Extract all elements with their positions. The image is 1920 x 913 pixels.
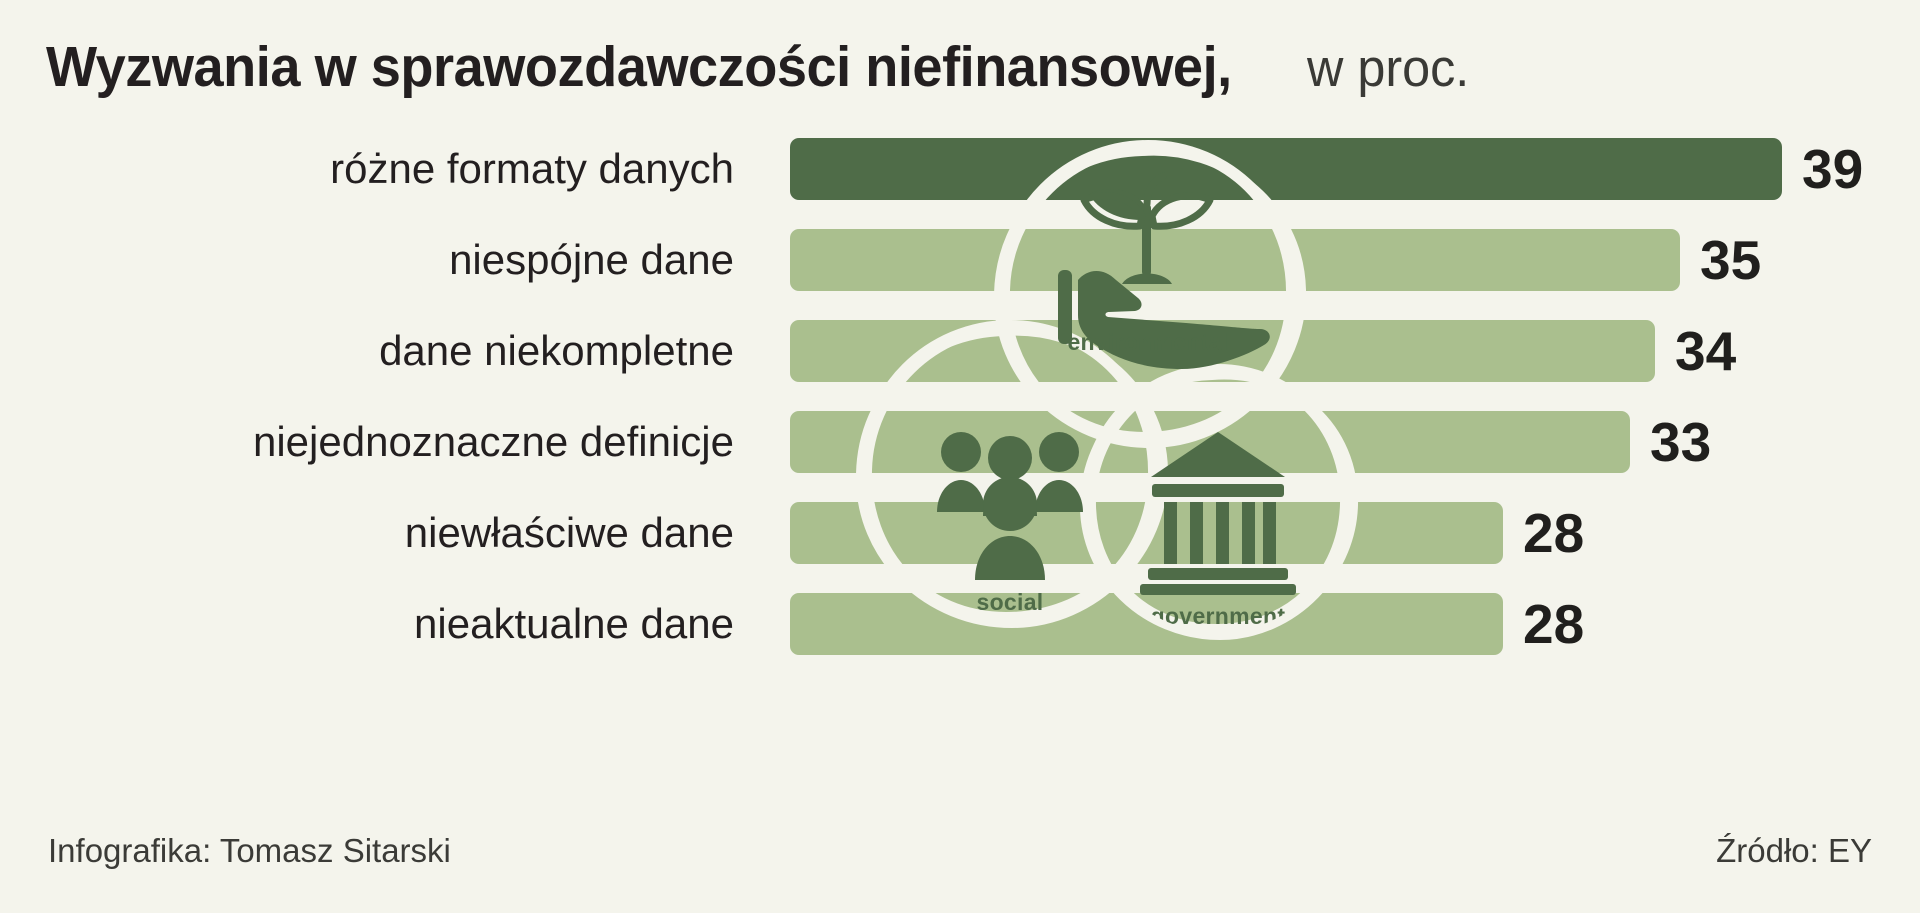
bar-value-label: 28 [1523, 496, 1584, 570]
footer-credit: Infografika: Tomasz Sitarski [48, 832, 451, 870]
bar-value-label: 35 [1700, 223, 1761, 297]
bar-value-label: 28 [1523, 587, 1584, 661]
bar-segment [790, 320, 1655, 382]
page-title-subtitle: w proc. [1307, 38, 1469, 99]
footer: Infografika: Tomasz Sitarski Źródło: EY [0, 832, 1920, 892]
bar-segment [790, 229, 1680, 291]
page-title: Wyzwania w sprawozdawczości niefinansowe… [46, 34, 1886, 106]
footer-source: Źródło: EY [1716, 832, 1872, 870]
category-label: dane niekompletne [0, 314, 762, 388]
chart-row: dane niekompletne 34 [0, 314, 1920, 388]
bar-segment [790, 411, 1630, 473]
category-label: niejednoznaczne definicje [0, 405, 762, 479]
bar-value-label: 39 [1802, 132, 1863, 206]
page-title-main: Wyzwania w sprawozdawczości niefinansowe… [46, 34, 1232, 100]
category-label: nieaktualne dane [0, 587, 762, 661]
bar-segment [790, 138, 1782, 200]
chart-row: nieaktualne dane 28 [0, 587, 1920, 661]
category-label: niewłaściwe dane [0, 496, 762, 570]
infographic-canvas: Wyzwania w sprawozdawczości niefinansowe… [0, 0, 1920, 913]
bar-value-label: 34 [1675, 314, 1736, 388]
chart-row: niejednoznaczne definicje 33 [0, 405, 1920, 479]
chart-row: niewłaściwe dane 28 [0, 496, 1920, 570]
chart-row: niespójne dane 35 [0, 223, 1920, 297]
chart-row: różne formaty danych 39 [0, 132, 1920, 206]
category-label: niespójne dane [0, 223, 762, 297]
bar-segment [790, 593, 1503, 655]
bar-segment [790, 502, 1503, 564]
bar-value-label: 33 [1650, 405, 1711, 479]
bar-chart: różne formaty danych 39 niespójne dane 3… [0, 132, 1920, 832]
category-label: różne formaty danych [0, 132, 762, 206]
